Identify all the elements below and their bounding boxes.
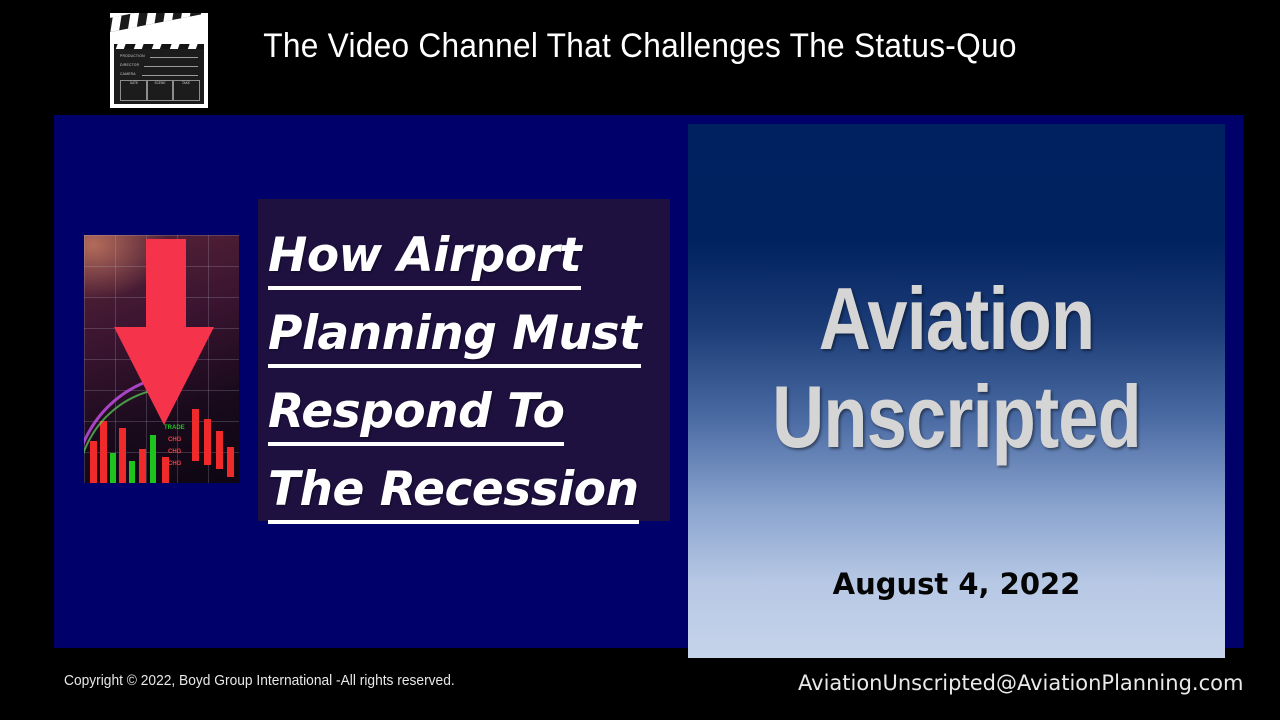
clapperboard-column-take: TAKE — [172, 80, 200, 101]
clapperboard-column-scene: SCENE — [146, 80, 174, 101]
brand-panel: Aviation Unscripted August 4, 2022 — [688, 124, 1225, 658]
clapperboard-column-date: DATE — [120, 80, 148, 101]
episode-title-line-3: Respond To — [268, 384, 564, 446]
downward-arrow-icon — [114, 239, 214, 429]
episode-title-line-2: Planning Must — [268, 306, 641, 368]
copyright-notice: Copyright © 2022, Boyd Group Internation… — [64, 673, 455, 689]
brand-name-line-1: Aviation — [736, 270, 1176, 368]
brand-name-line-2: Unscripted — [736, 368, 1176, 466]
header-bar: PRODUCTION DIRECTOR CAMERA DATE SCENE TA… — [0, 0, 1280, 115]
episode-title-line-4: The Recession — [268, 462, 639, 524]
contact-email[interactable]: AviationUnscripted@AviationPlanning.com — [798, 671, 1243, 695]
episode-title-line-1: How Airport — [268, 228, 581, 290]
episode-title-box: How Airport Planning Must Respond To The… — [258, 199, 670, 521]
clapperboard-field-camera: CAMERA — [120, 72, 136, 76]
recession-stock-chart-image: TRADE CHG CHG CHG — [84, 235, 239, 483]
episode-title: How Airport Planning Must Respond To The… — [268, 217, 662, 529]
episode-date: August 4, 2022 — [688, 567, 1225, 601]
header-tagline: The Video Channel That Challenges The St… — [45, 27, 1235, 66]
brand-name: Aviation Unscripted — [736, 270, 1176, 466]
